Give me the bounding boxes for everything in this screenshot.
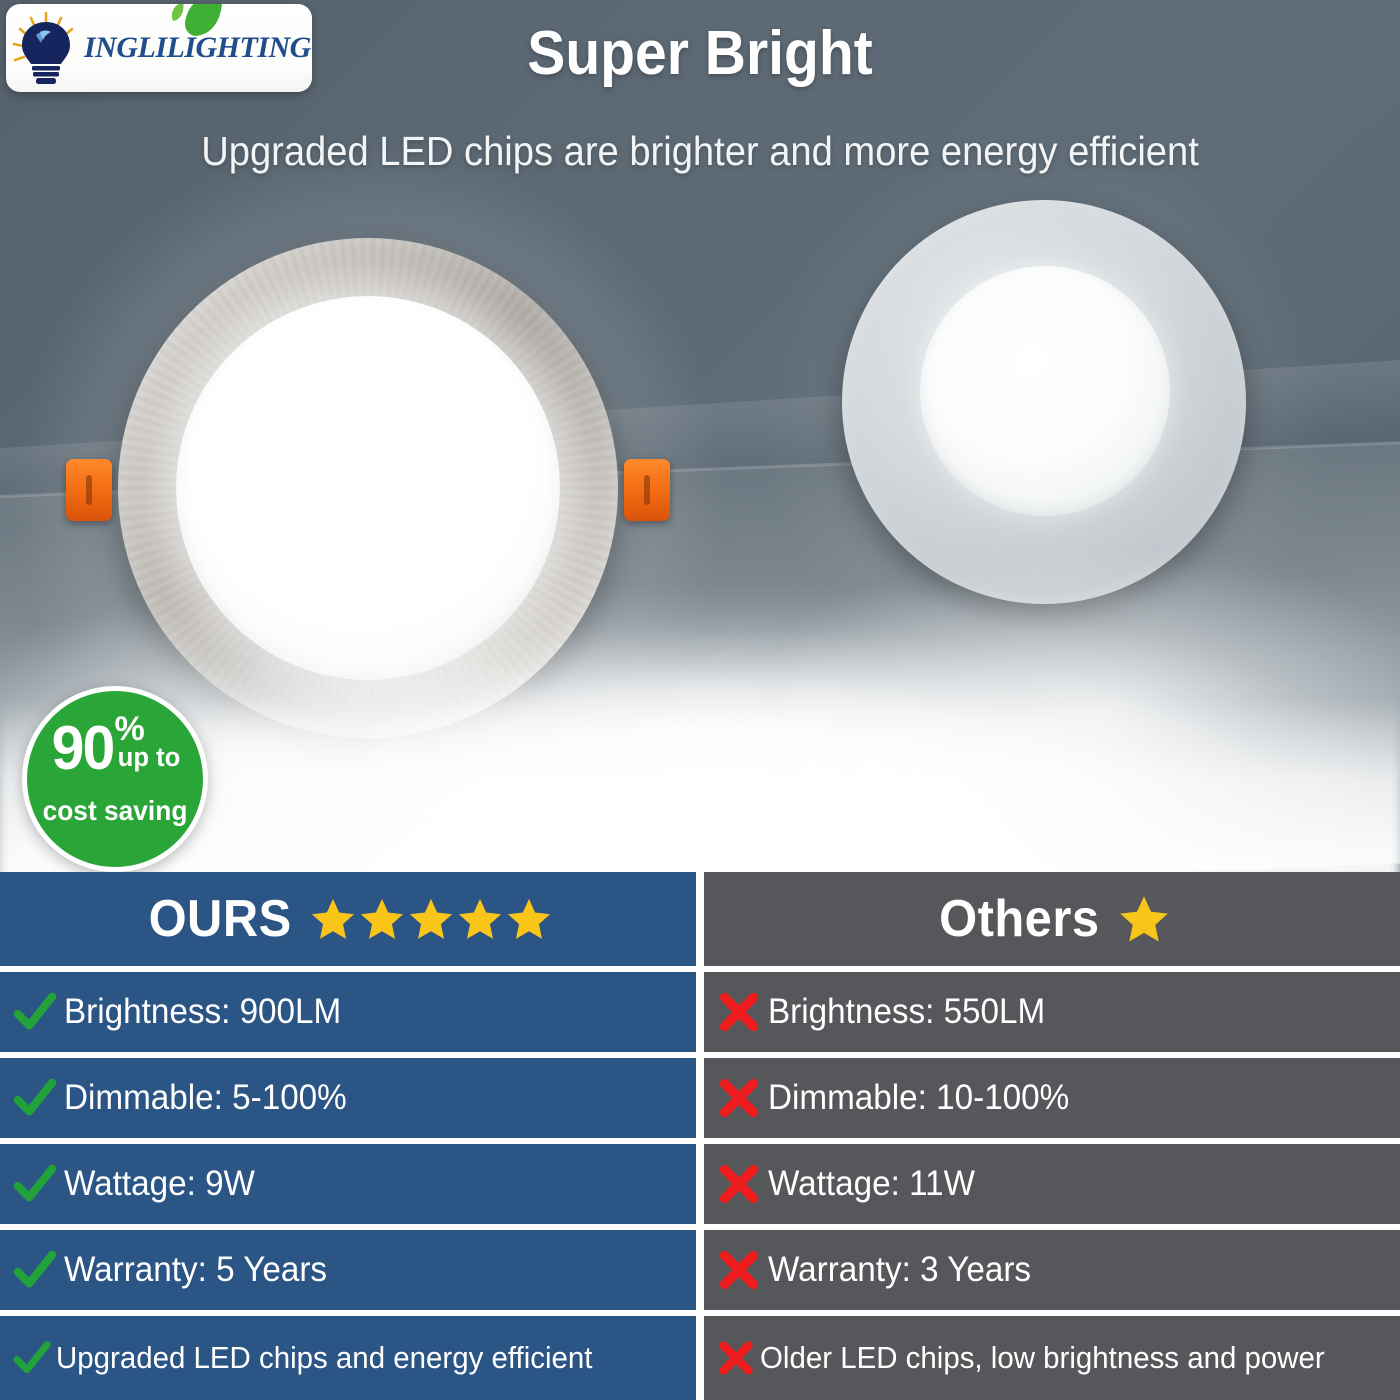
star-icon (506, 896, 552, 942)
cross-icon (716, 989, 762, 1035)
table-row: Brightness: 550LM (704, 972, 1400, 1052)
cross-icon (716, 1338, 756, 1378)
row-text: Wattage: 11W (768, 1164, 975, 1204)
cost-saving-badge: 90%up to cost saving (22, 686, 208, 872)
floor-light-fade (0, 700, 1400, 872)
table-row: Wattage: 11W (704, 1144, 1400, 1224)
star-icon (408, 896, 454, 942)
column-divider (696, 872, 704, 1400)
badge-percent-symbol: % (114, 712, 144, 746)
table-row: Wattage: 9W (0, 1144, 696, 1224)
row-text: Upgraded LED chips and energy efficient (56, 1340, 592, 1376)
table-row: Older LED chips, low brightness and powe… (704, 1316, 1400, 1400)
others-header-label: Others (939, 889, 1099, 949)
ours-header: OURS (0, 872, 696, 966)
table-row: Warranty: 3 Years (704, 1230, 1400, 1310)
cross-icon (716, 1075, 762, 1121)
check-icon (12, 1075, 58, 1121)
infographic-root: INGLILIGHTING Super Bright Upgraded LED … (0, 0, 1400, 1400)
ours-star-rating (310, 896, 552, 942)
row-text: Warranty: 3 Years (768, 1250, 1031, 1290)
star-icon (310, 896, 356, 942)
row-text: Wattage: 9W (64, 1164, 255, 1204)
others-lens (920, 266, 1170, 516)
spring-clip-right-icon (624, 459, 670, 521)
star-icon (457, 896, 503, 942)
row-text: Warranty: 5 Years (64, 1250, 327, 1290)
check-icon (12, 1338, 52, 1378)
check-icon (12, 1161, 58, 1207)
table-row: Upgraded LED chips and energy efficient (0, 1316, 696, 1400)
table-row: Warranty: 5 Years (0, 1230, 696, 1310)
table-row: Dimmable: 5-100% (0, 1058, 696, 1138)
cross-icon (716, 1247, 762, 1293)
table-row: Brightness: 900LM (0, 972, 696, 1052)
others-header: Others (704, 872, 1400, 966)
check-icon (12, 1247, 58, 1293)
row-text: Dimmable: 5-100% (64, 1078, 347, 1118)
ours-header-label: OURS (148, 889, 291, 949)
table-row: Dimmable: 10-100% (704, 1058, 1400, 1138)
row-text: Dimmable: 10-100% (768, 1078, 1069, 1118)
star-icon (359, 896, 405, 942)
badge-caption: cost saving (32, 795, 197, 827)
page-subtitle: Upgraded LED chips are brighter and more… (49, 128, 1351, 175)
others-star-rating (1118, 893, 1170, 945)
cross-icon (716, 1161, 762, 1207)
check-icon (12, 989, 58, 1035)
row-text: Brightness: 900LM (64, 992, 341, 1032)
comparison-table: OURS Brightness: 900LM Dimmable: 5-100% (0, 872, 1400, 1400)
row-text: Older LED chips, low brightness and powe… (760, 1340, 1325, 1376)
row-text: Brightness: 550LM (768, 992, 1045, 1032)
others-column: Others Brightness: 550LM Dimmable: 10-10… (704, 872, 1400, 1400)
badge-up-to: up to (118, 744, 181, 771)
ours-column: OURS Brightness: 900LM Dimmable: 5-100% (0, 872, 696, 1400)
badge-number: 90 (51, 718, 113, 780)
star-icon (1118, 893, 1170, 945)
page-title: Super Bright (56, 18, 1344, 89)
spring-clip-left-icon (66, 459, 112, 521)
